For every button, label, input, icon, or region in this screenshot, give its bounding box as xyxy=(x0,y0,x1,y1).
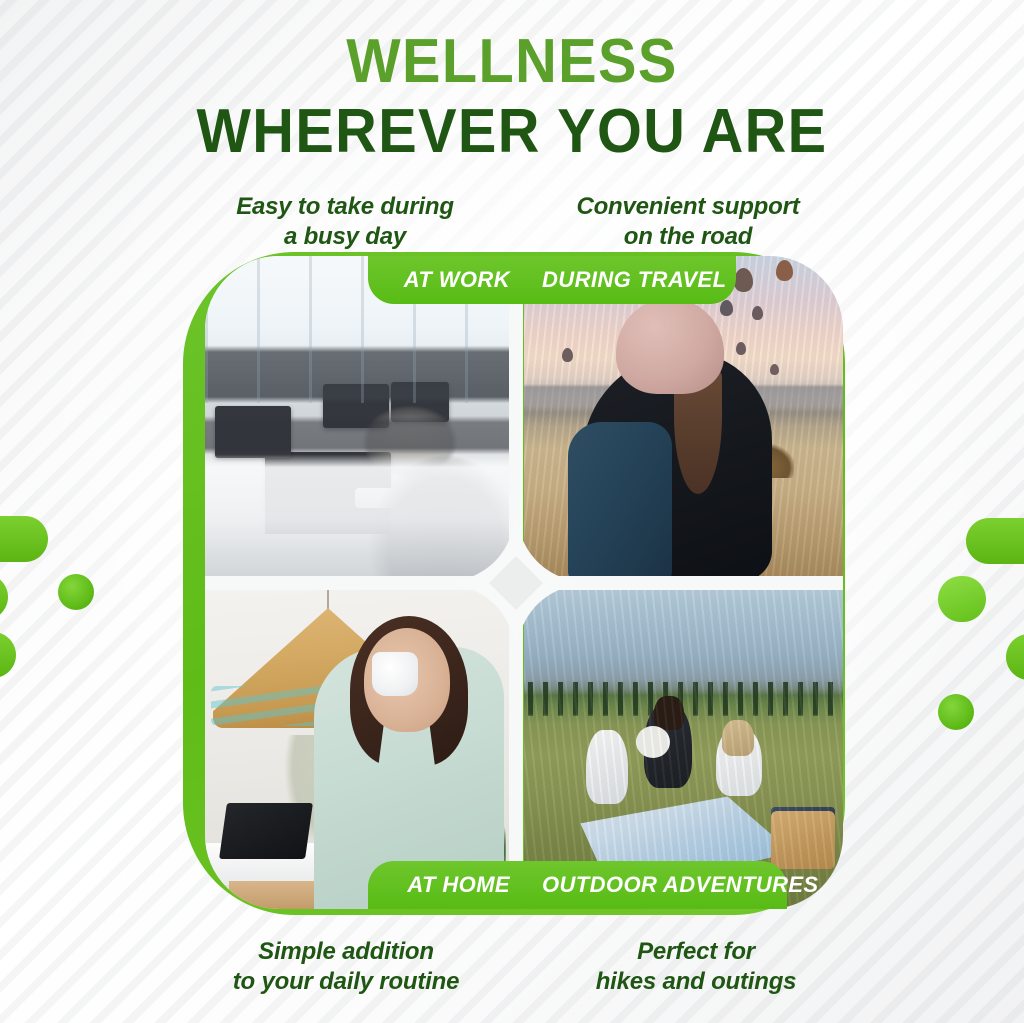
deco-dot xyxy=(938,694,974,730)
photo-grid: AT WORK DURING TRAVEL AT HOME OUTDOOR AD… xyxy=(205,256,843,909)
knit-hat xyxy=(616,298,724,394)
caption-bottom-left: Simple addition to your daily routine xyxy=(196,937,496,997)
balloon-icon xyxy=(752,306,763,320)
balloon-icon xyxy=(736,342,746,355)
deco-bar xyxy=(0,632,16,678)
person-hair xyxy=(722,720,754,756)
basket-lid xyxy=(771,807,835,831)
person-hair xyxy=(590,722,622,762)
small-dog xyxy=(636,726,670,758)
headline: WELLNESS WHEREVER YOU ARE xyxy=(0,30,1024,164)
label-during-travel-text: DURING TRAVEL xyxy=(542,267,726,293)
headline-line-2: WHEREVER YOU ARE xyxy=(36,100,988,164)
person-picnic xyxy=(644,704,692,788)
balloon-icon xyxy=(734,268,753,292)
deco-bar xyxy=(1006,634,1024,680)
caption-bottom-right-line-1: Perfect for xyxy=(546,937,846,967)
caption-bottom-left-line-2: to your daily routine xyxy=(196,967,496,997)
right-decoration xyxy=(914,398,1024,698)
center-star-ornament xyxy=(447,514,585,652)
label-outdoor-adventures-text: OUTDOOR ADVENTURES xyxy=(542,872,819,898)
label-during-travel: DURING TRAVEL xyxy=(524,256,736,304)
label-at-home-text: AT HOME xyxy=(407,872,510,898)
deco-bar xyxy=(0,574,8,620)
caption-bottom-left-line-1: Simple addition xyxy=(196,937,496,967)
picnic-basket xyxy=(771,811,835,869)
deco-bar xyxy=(966,518,1024,564)
deco-dot xyxy=(58,574,94,610)
caption-bottom-right-line-2: hikes and outings xyxy=(546,967,846,997)
deco-pill xyxy=(938,576,986,622)
caption-bottom-right: Perfect for hikes and outings xyxy=(546,937,846,997)
label-at-work: AT WORK xyxy=(368,256,524,304)
balloon-icon xyxy=(776,260,793,281)
wall-art xyxy=(211,686,331,726)
caption-top-left: Easy to take during a busy day xyxy=(200,192,490,252)
laptop xyxy=(219,803,313,859)
person-picnic xyxy=(586,730,628,804)
caption-top-right: Convenient support on the road xyxy=(543,192,833,252)
person-picnic xyxy=(716,728,762,796)
label-at-work-text: AT WORK xyxy=(404,267,510,293)
coffee-mug xyxy=(372,652,418,696)
person-hair xyxy=(654,696,684,730)
deco-bar xyxy=(0,516,48,562)
label-outdoor-adventures: OUTDOOR ADVENTURES xyxy=(524,861,787,909)
left-decoration xyxy=(0,398,110,698)
balloon-icon xyxy=(770,364,779,375)
label-at-home: AT HOME xyxy=(368,861,524,909)
balloon-icon xyxy=(562,348,573,362)
balloon-icon xyxy=(720,300,733,316)
poster-canvas: WELLNESS WHEREVER YOU ARE Easy to take d… xyxy=(0,0,1024,1023)
caption-top-left-line-2: a busy day xyxy=(200,222,490,252)
caption-top-right-line-2: on the road xyxy=(543,222,833,252)
caption-top-right-line-1: Convenient support xyxy=(543,192,833,222)
caption-top-left-line-1: Easy to take during xyxy=(200,192,490,222)
headline-line-1: WELLNESS xyxy=(36,30,988,94)
